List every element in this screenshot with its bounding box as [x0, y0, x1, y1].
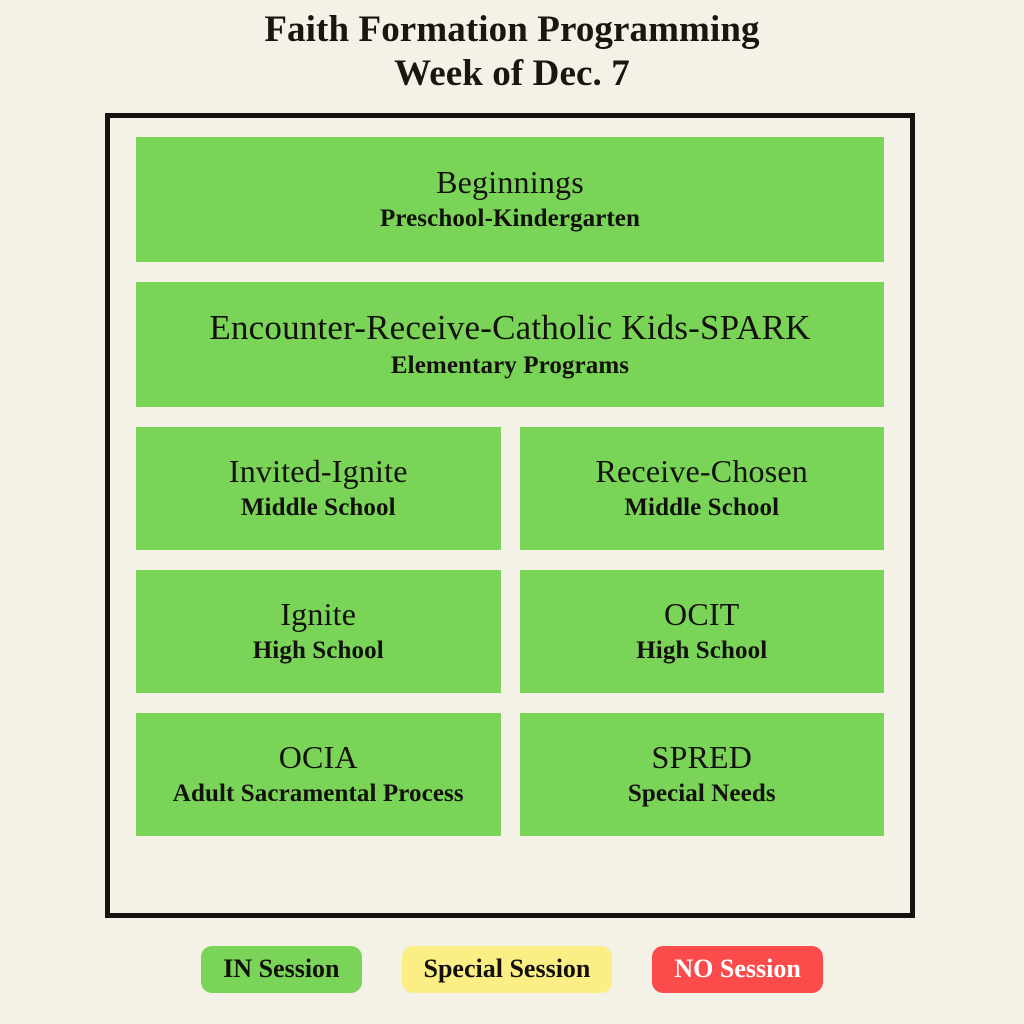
program-card-ocit[interactable]: OCIT High School — [520, 570, 885, 693]
program-audience: Elementary Programs — [391, 351, 629, 381]
program-audience: Middle School — [241, 493, 396, 523]
program-name: Receive-Chosen — [595, 454, 808, 490]
legend: IN Session Special Session NO Session — [0, 946, 1024, 993]
program-card-invited-ignite[interactable]: Invited-Ignite Middle School — [136, 427, 501, 550]
program-name: OCIA — [279, 740, 358, 776]
program-card-receive-chosen[interactable]: Receive-Chosen Middle School — [520, 427, 885, 550]
program-audience: Preschool-Kindergarten — [380, 204, 640, 234]
program-audience: Middle School — [624, 493, 779, 523]
schedule-rows: Beginnings Preschool-Kindergarten Encoun… — [136, 137, 884, 836]
program-card-beginnings[interactable]: Beginnings Preschool-Kindergarten — [136, 137, 884, 262]
program-card-elementary[interactable]: Encounter-Receive-Catholic Kids-SPARK El… — [136, 282, 884, 407]
schedule-row: Ignite High School OCIT High School — [136, 570, 884, 693]
poster-canvas: Faith Formation Programming Week of Dec.… — [0, 0, 1024, 1024]
program-audience: Special Needs — [628, 779, 776, 809]
program-audience: High School — [636, 636, 767, 666]
program-card-ocia[interactable]: OCIA Adult Sacramental Process — [136, 713, 501, 836]
page-title: Faith Formation Programming Week of Dec.… — [0, 8, 1024, 95]
program-name: SPRED — [651, 740, 752, 776]
program-name: Invited-Ignite — [229, 454, 408, 490]
program-name: OCIT — [664, 597, 739, 633]
program-name: Encounter-Receive-Catholic Kids-SPARK — [209, 308, 810, 347]
program-name: Ignite — [280, 597, 356, 633]
schedule-row: OCIA Adult Sacramental Process SPRED Spe… — [136, 713, 884, 836]
legend-item-in-session[interactable]: IN Session — [201, 946, 361, 993]
schedule-row: Encounter-Receive-Catholic Kids-SPARK El… — [136, 282, 884, 407]
program-card-ignite[interactable]: Ignite High School — [136, 570, 501, 693]
program-name: Beginnings — [436, 165, 584, 201]
legend-item-no-session[interactable]: NO Session — [652, 946, 822, 993]
title-line-1: Faith Formation Programming — [0, 8, 1024, 52]
legend-item-special-session[interactable]: Special Session — [402, 946, 613, 993]
program-audience: Adult Sacramental Process — [173, 779, 464, 809]
title-line-2: Week of Dec. 7 — [0, 52, 1024, 96]
schedule-row: Beginnings Preschool-Kindergarten — [136, 137, 884, 262]
schedule-frame: Beginnings Preschool-Kindergarten Encoun… — [105, 113, 915, 918]
program-card-spred[interactable]: SPRED Special Needs — [520, 713, 885, 836]
schedule-row: Invited-Ignite Middle School Receive-Cho… — [136, 427, 884, 550]
program-audience: High School — [253, 636, 384, 666]
